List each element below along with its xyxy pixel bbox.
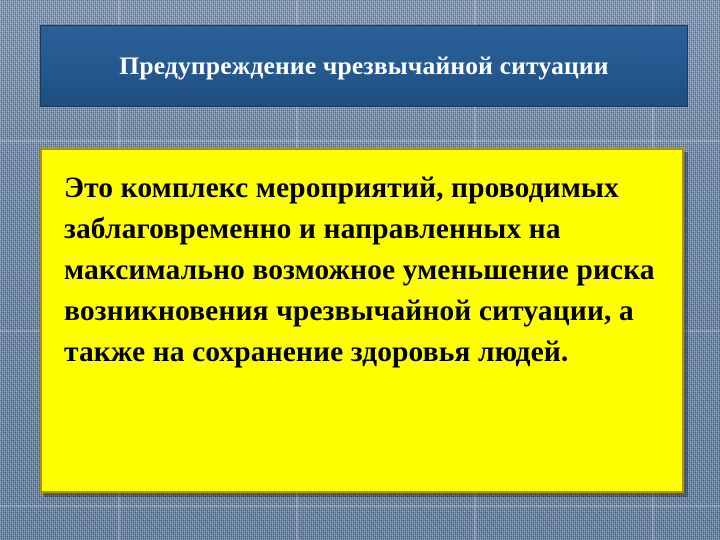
background-seam [0, 505, 720, 507]
slide: Предупреждение чрезвычайной ситуации Это… [0, 0, 720, 540]
slide-title-box: Предупреждение чрезвычайной ситуации [40, 25, 688, 107]
slide-body-text: Это комплекс мероприятий, проводимых заб… [64, 168, 660, 373]
background-seam [0, 140, 720, 142]
slide-title: Предупреждение чрезвычайной ситуации [119, 51, 608, 81]
slide-body-box: Это комплекс мероприятий, проводимых заб… [40, 148, 684, 493]
